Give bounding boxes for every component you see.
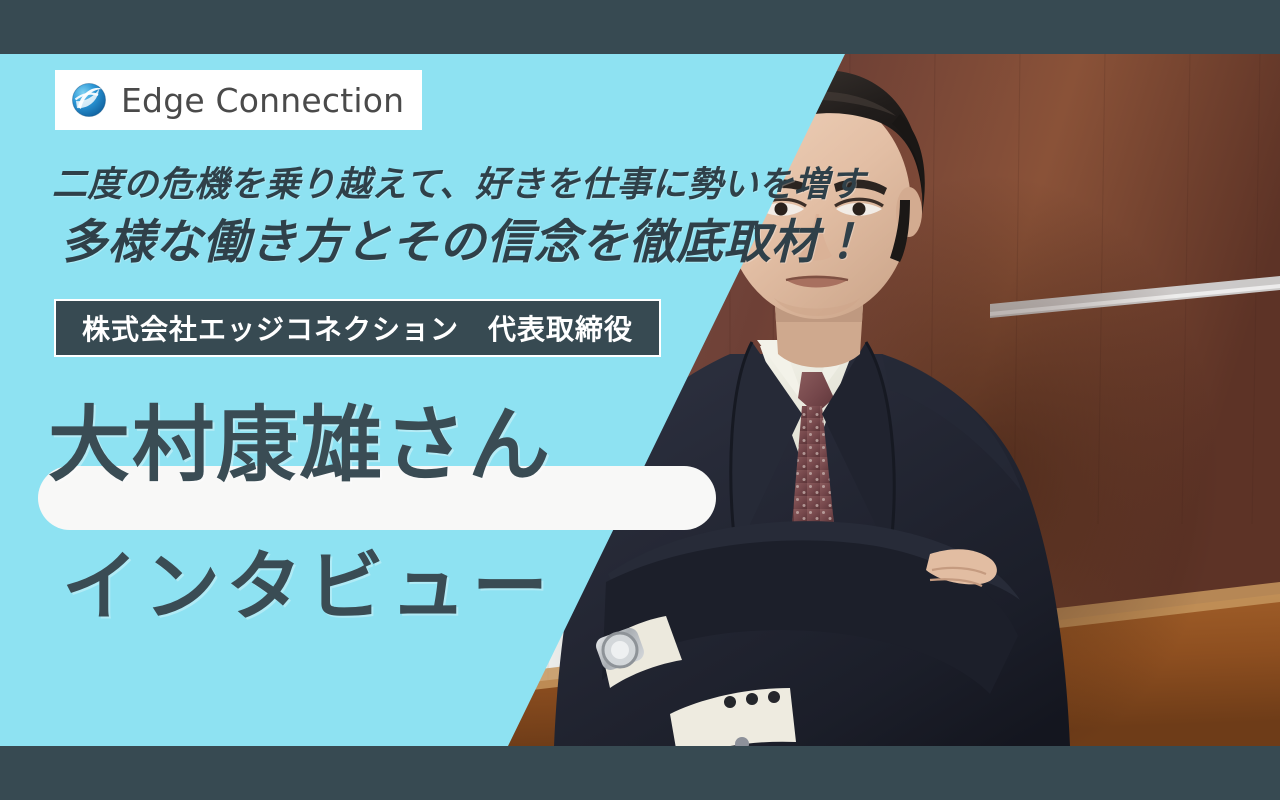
headline-line-1: 二度の危機を乗り越えて、好きを仕事に勢いを増す [52,163,952,207]
bottom-letterbox-bar [0,746,1280,800]
thumbnail-canvas: Edge Connection 二度の危機を乗り越えて、好きを仕事に勢いを増す … [0,0,1280,800]
edge-connection-globe-icon [69,80,109,120]
headline: 二度の危機を乗り越えて、好きを仕事に勢いを増す 多様な働き方とその信念を徹底取材… [52,163,952,271]
headline-line-2: 多様な働き方とその信念を徹底取材！ [60,213,952,271]
top-letterbox-bar [0,0,1280,54]
person-name: 大村康雄さん [48,398,552,494]
brand-logo[interactable]: Edge Connection [55,70,422,130]
brand-wordmark: Edge Connection [121,81,404,120]
company-role-badge: 株式会社エッジコネクション 代表取締役 [54,299,661,357]
interview-label: インタビュー [62,541,554,633]
company-role-text: 株式会社エッジコネクション 代表取締役 [82,308,633,348]
